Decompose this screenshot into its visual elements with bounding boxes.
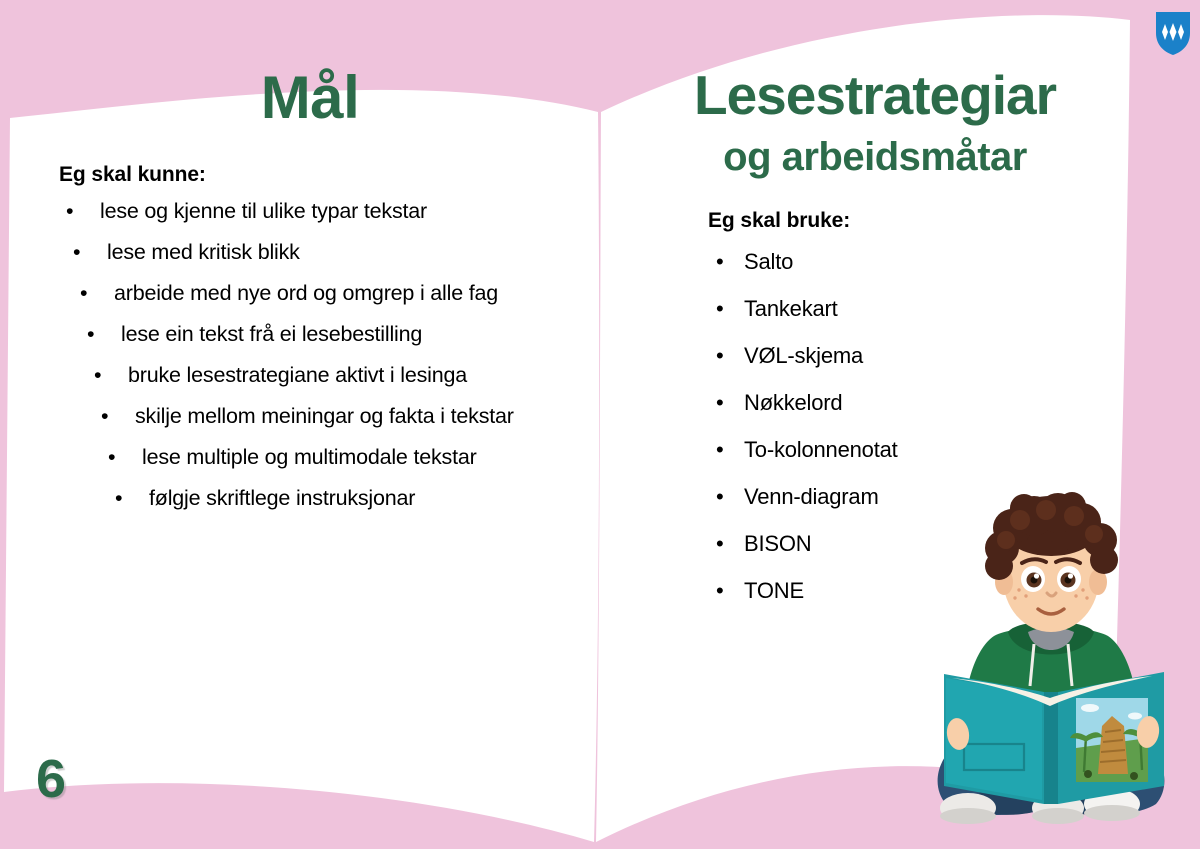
list-item-label: arbeide med nye ord og omgrep i alle fag xyxy=(114,282,498,305)
list-item: • skilje mellom meiningar og fakta i tek… xyxy=(0,405,620,446)
left-goals-list: • lese og kjenne til ulike typar tekstar… xyxy=(0,200,620,528)
slide-canvas: Mål Eg skal kunne: • lese og kjenne til … xyxy=(0,0,1200,849)
list-item: • arbeide med nye ord og omgrep i alle f… xyxy=(0,282,620,323)
list-item-label: lese ein tekst frå ei lesebestilling xyxy=(121,323,422,346)
bullet-icon: • xyxy=(716,391,724,414)
bullet-icon: • xyxy=(101,405,108,428)
list-item-label: To-kolonnenotat xyxy=(744,438,898,461)
list-item: • lese ein tekst frå ei lesebestilling xyxy=(0,323,620,364)
bullet-icon: • xyxy=(716,297,724,320)
list-item-label: VØL-skjema xyxy=(744,344,863,367)
head-group xyxy=(985,492,1118,632)
bullet-icon: • xyxy=(716,438,724,461)
page-title-maal: Mål xyxy=(0,68,620,128)
list-item-label: lese multiple og multimodale tekstar xyxy=(142,446,477,469)
page-subtitle-arbeidsmatar: og arbeidsmåtar xyxy=(620,137,1130,177)
bullet-icon: • xyxy=(115,487,122,510)
bullet-icon: • xyxy=(80,282,87,305)
list-item-label: lese med kritisk blikk xyxy=(107,241,300,264)
bullet-icon: • xyxy=(73,241,80,264)
list-item: • følgje skriftlege instruksjonar xyxy=(0,487,620,528)
bullet-icon: • xyxy=(66,200,73,223)
bullet-icon: • xyxy=(716,344,724,367)
list-item-label: Venn-diagram xyxy=(744,485,879,508)
bullet-icon: • xyxy=(716,579,724,602)
list-item: • Nøkkelord xyxy=(620,391,1200,438)
list-item: • Tankekart xyxy=(620,297,1200,344)
list-item: • lese og kjenne til ulike typar tekstar xyxy=(0,200,620,241)
list-item: • lese med kritisk blikk xyxy=(0,241,620,282)
list-item: • Salto xyxy=(620,250,1200,297)
list-item-label: Nøkkelord xyxy=(744,391,842,414)
list-item-label: Tankekart xyxy=(744,297,838,320)
list-item-label: bruke lesestrategiane aktivt i lesinga xyxy=(128,364,467,387)
bullet-icon: • xyxy=(716,532,724,555)
list-item-label: lese og kjenne til ulike typar tekstar xyxy=(100,200,427,223)
bullet-icon: • xyxy=(108,446,115,469)
list-item: • lese multiple og multimodale tekstar xyxy=(0,446,620,487)
list-item: • bruke lesestrategiane aktivt i lesinga xyxy=(0,364,620,405)
page-title-lesestrategiar: Lesestrategiar xyxy=(620,68,1130,123)
list-item-label: skilje mellom meiningar og fakta i tekst… xyxy=(135,405,514,428)
list-item-label: følgje skriftlege instruksjonar xyxy=(149,487,415,510)
list-item: • VØL-skjema xyxy=(620,344,1200,391)
bullet-icon: • xyxy=(94,364,101,387)
bullet-icon: • xyxy=(716,250,724,273)
bullet-icon: • xyxy=(716,485,724,508)
list-item: • To-kolonnenotat xyxy=(620,438,1200,485)
bullet-icon: • xyxy=(87,323,94,346)
right-lead-text: Eg skal bruke: xyxy=(708,209,850,233)
page-number: 6 xyxy=(36,752,66,806)
left-lead-text: Eg skal kunne: xyxy=(59,163,206,187)
list-item-label: BISON xyxy=(744,532,811,555)
list-item-label: TONE xyxy=(744,579,804,602)
left-page-content: Mål Eg skal kunne: • lese og kjenne til … xyxy=(0,0,620,849)
boy-reading-illustration xyxy=(916,486,1186,831)
list-item-label: Salto xyxy=(744,250,793,273)
